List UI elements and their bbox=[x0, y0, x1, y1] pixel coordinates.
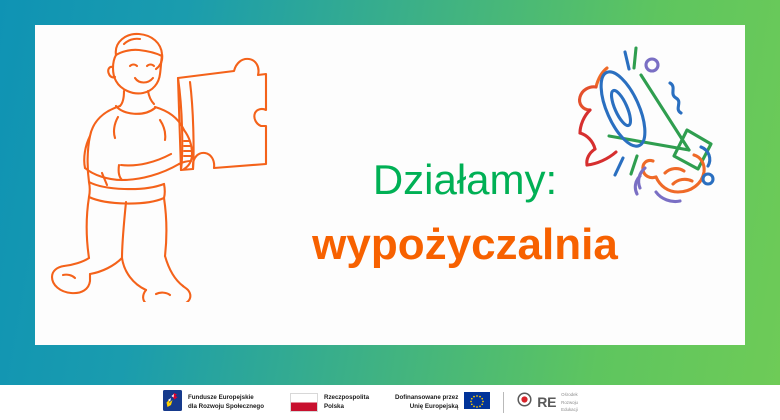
footer-divider bbox=[503, 392, 504, 413]
fe-logo-line-1: Fundusze Europejskie bbox=[188, 394, 254, 401]
eu-logo-line-2: Unię Europejską bbox=[410, 403, 459, 410]
pl-logo-text: Rzeczpospolita Polska bbox=[324, 394, 369, 412]
fe-logo-line-2: dla Rozwoju Społecznego bbox=[188, 403, 264, 410]
headline-primary: Działamy: bbox=[255, 155, 675, 205]
headline-secondary: wypożyczalnia bbox=[255, 219, 675, 271]
headline-block: Działamy: wypożyczalnia bbox=[255, 155, 675, 270]
footer-logo-bar: Fundusze Europejskie dla Rozwoju Społecz… bbox=[0, 385, 780, 420]
fe-logo-icon bbox=[163, 390, 182, 416]
pl-logo-line-1: Rzeczpospolita bbox=[324, 394, 369, 401]
ore-subtext-line-2: Rozwoju bbox=[561, 400, 578, 405]
eu-flag-icon bbox=[464, 392, 490, 414]
ore-subtext: Ośrodek Rozwoju Edukacji bbox=[561, 391, 578, 414]
ore-wordmark: RE bbox=[537, 394, 556, 410]
logo-ore: RE Ośrodek Rozwoju Edukacji bbox=[517, 391, 578, 414]
poland-flag-icon bbox=[290, 393, 318, 412]
person-carrying-puzzle-piece-illustration bbox=[38, 22, 268, 302]
fe-logo-text: Fundusze Europejskie dla Rozwoju Społecz… bbox=[188, 394, 264, 412]
eu-logo-text: Dofinansowane przez Unię Europejską bbox=[395, 394, 458, 412]
logo-dofinansowane-ue: Dofinansowane przez Unię Europejską bbox=[395, 392, 490, 414]
ore-subtext-line-3: Edukacji bbox=[561, 407, 578, 412]
logo-fundusze-europejskie: Fundusze Europejskie dla Rozwoju Społecz… bbox=[163, 390, 264, 416]
eu-logo-line-1: Dofinansowane przez bbox=[395, 394, 458, 401]
poster-canvas: Działamy: wypożyczalnia Fundusze Europej… bbox=[0, 0, 780, 420]
logo-rzeczpospolita-polska: Rzeczpospolita Polska bbox=[290, 393, 369, 412]
ore-logo-icon bbox=[517, 392, 532, 412]
ore-subtext-line-1: Ośrodek bbox=[561, 392, 578, 397]
pl-logo-line-2: Polska bbox=[324, 403, 344, 410]
